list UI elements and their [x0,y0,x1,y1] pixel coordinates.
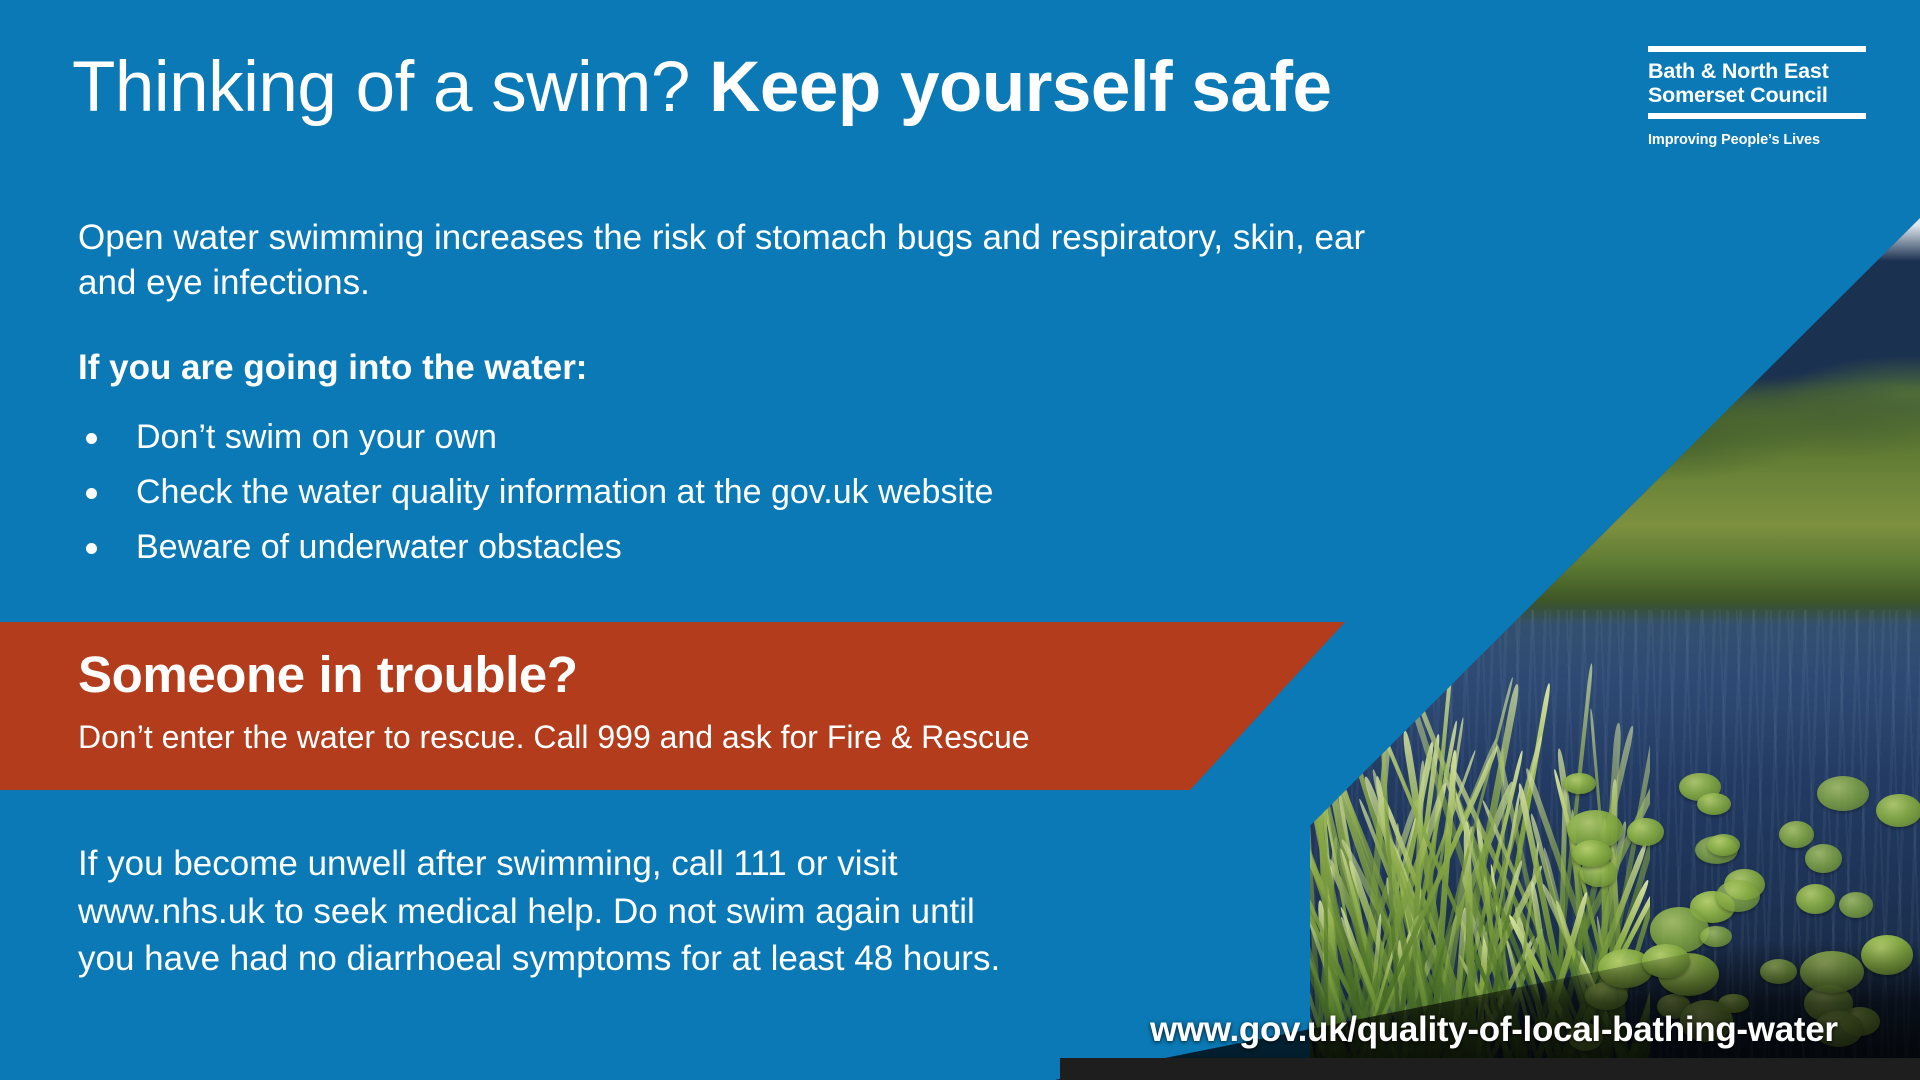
gov-uk-url[interactable]: www.gov.uk/quality-of-local-bathing-wate… [1150,1010,1838,1050]
bullet-dot-icon [86,433,97,444]
bullet-dot-icon [86,543,97,554]
logo-name: Bath & North East Somerset Council [1648,52,1866,113]
intro-paragraph: Open water swimming increases the risk o… [78,216,1378,306]
safety-bullet-list: Don’t swim on your ownCheck the water qu… [78,420,1378,585]
page-title-light: Thinking of a swim? [72,48,709,127]
council-logo: Bath & North East Somerset Council Impro… [1648,46,1866,148]
poster-canvas: Thinking of a swim? Keep yourself safe B… [0,0,1920,1080]
page-title-bold: Keep yourself safe [709,48,1331,127]
alert-title: Someone in trouble? [78,645,578,704]
logo-tagline: Improving People’s Lives [1648,119,1866,148]
list-item-label: Check the water quality information at t… [136,473,993,511]
logo-name-line1: Bath & North East [1648,59,1866,83]
alert-subtitle: Don’t enter the water to rescue. Call 99… [78,719,1030,756]
list-item: Don’t swim on your own [78,420,1378,454]
logo-name-line2: Somerset Council [1648,83,1866,107]
bullet-dot-icon [86,488,97,499]
pond-photo-image [1310,180,1920,1080]
bottom-dark-bar [1060,1058,1920,1080]
page-title: Thinking of a swim? Keep yourself safe [72,52,1332,123]
list-item: Check the water quality information at t… [78,475,1378,509]
list-item: Beware of underwater obstacles [78,530,1378,564]
section-heading-going-into-water: If you are going into the water: [78,348,587,388]
footer-health-note: If you become unwell after swimming, cal… [78,840,1028,983]
list-item-label: Don’t swim on your own [136,418,497,456]
list-item-label: Beware of underwater obstacles [136,528,622,566]
